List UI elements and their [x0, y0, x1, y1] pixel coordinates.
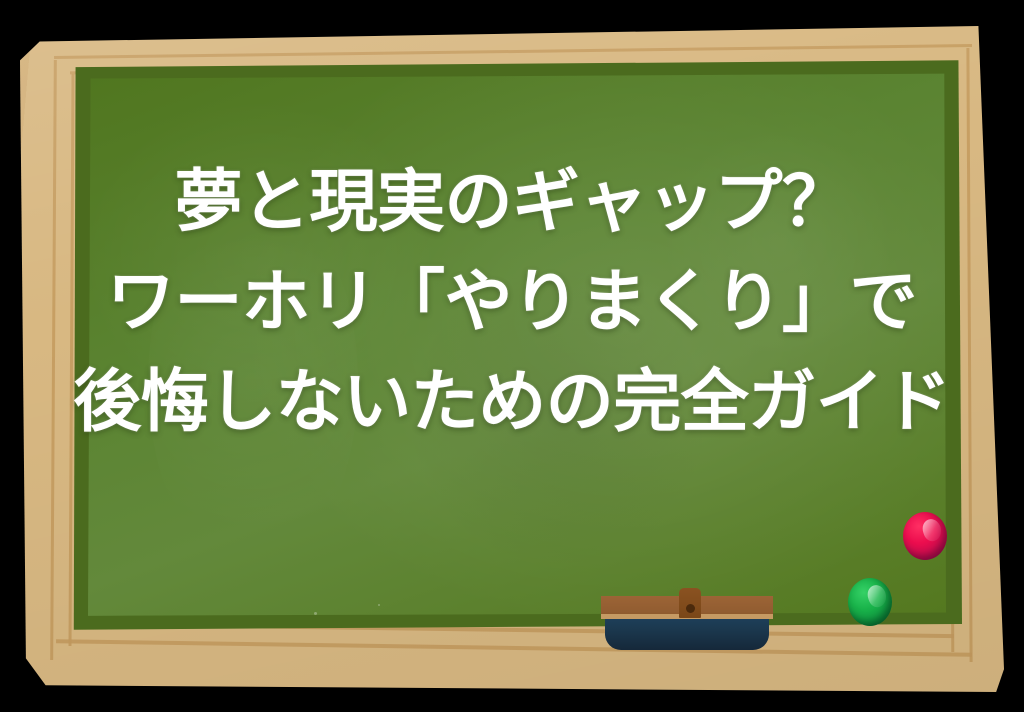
blackboard-eraser	[601, 588, 773, 650]
magnet-highlight	[920, 516, 944, 543]
chalk-speck	[314, 612, 317, 615]
frame-bevel-top-outer	[54, 44, 972, 59]
magnet-pink	[903, 512, 947, 560]
frame-bevel-left-inner	[69, 74, 75, 646]
chalk-smudge	[648, 132, 908, 352]
eraser-screw	[686, 604, 695, 613]
magnet-green	[848, 578, 892, 626]
magnet-highlight	[865, 582, 889, 609]
chalk-speck	[378, 604, 380, 606]
chalk-smudge	[408, 252, 708, 582]
chalk-smudge	[148, 192, 358, 572]
chalkboard-surface	[88, 72, 946, 618]
title-card-canvas: 夢と現実のギャップ？ ワーホリ「やりまくり」で 後悔しないための完全ガイド	[0, 0, 1024, 712]
frame-bevel-right-outer	[966, 48, 972, 662]
eraser-handle	[679, 588, 701, 618]
frame-bevel-bottom-outer	[56, 639, 972, 657]
frame-bevel-left-outer	[50, 60, 57, 660]
